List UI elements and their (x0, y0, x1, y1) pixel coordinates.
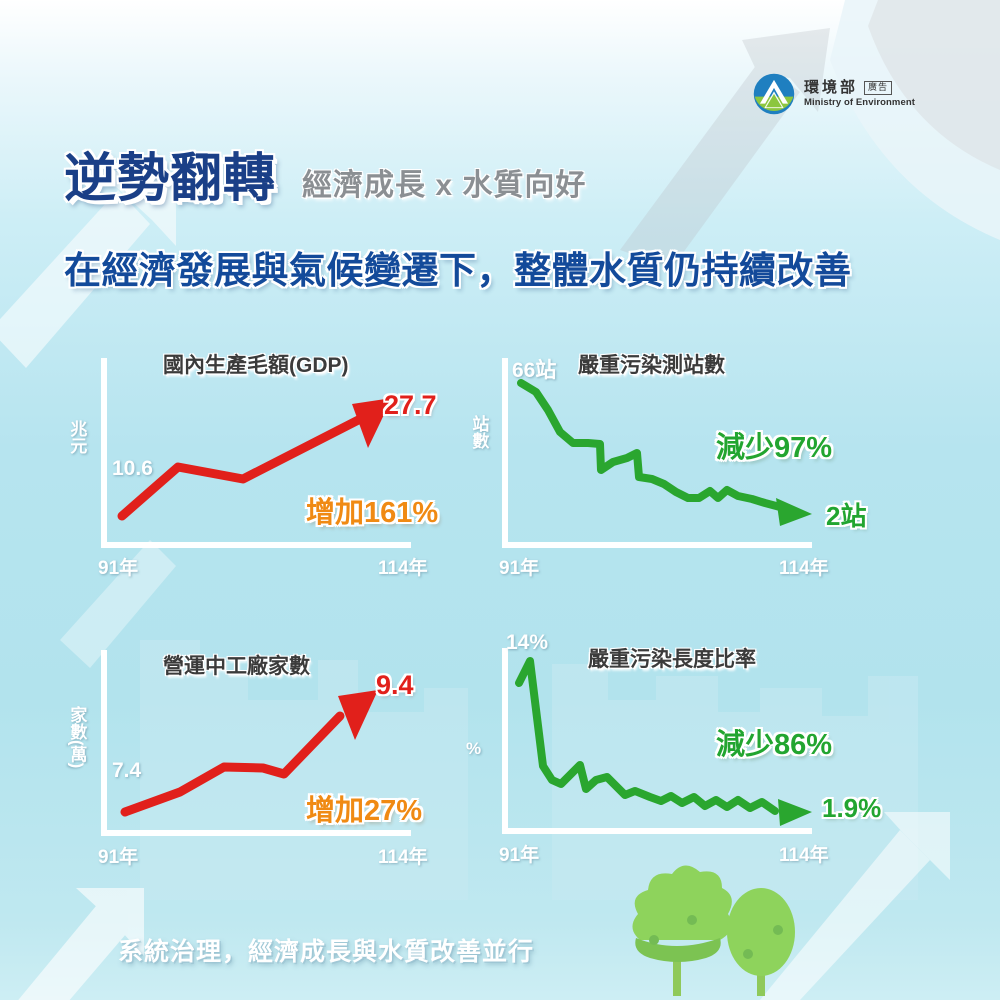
infographic-poster: 環境部 廣告 Ministry of Environment 逆勢翻轉 經濟成長… (0, 0, 1000, 1000)
chart-severe-length-ratio-xtick-start: 91年 (499, 840, 539, 867)
chart-severe-length-ratio-xtick-end: 114年 (779, 840, 829, 867)
chart-severe-length-ratio-arrowhead (778, 799, 812, 826)
chart-severe-length-ratio: 嚴重污染長度比率 % 14% 1.9% 減少86% 91年 114年 (0, 0, 1000, 1000)
chart-severe-length-ratio-end-value: 1.9% (822, 793, 881, 824)
chart-severe-length-ratio-start-value: 14% (506, 631, 548, 655)
chart-severe-length-ratio-ylabel: % (466, 740, 481, 757)
chart-severe-length-ratio-title: 嚴重污染長度比率 (588, 643, 756, 673)
chart-severe-length-ratio-delta: 減少86% (716, 721, 832, 763)
footer-caption: 系統治理，經濟成長與水質改善並行 (118, 932, 534, 968)
